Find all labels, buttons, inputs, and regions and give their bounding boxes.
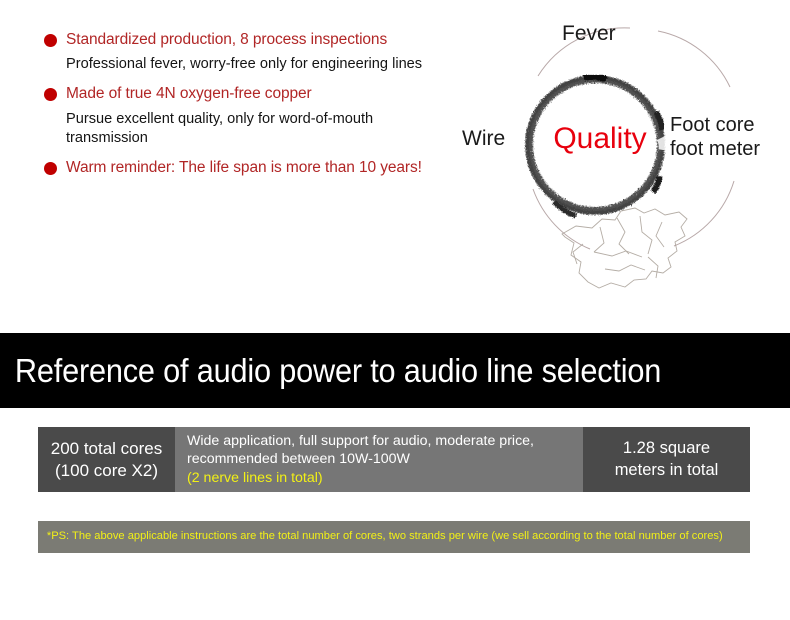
feature-title-1: Standardized production, 8 process inspe… xyxy=(66,30,387,50)
spec-cores-line1: 200 total cores xyxy=(51,438,163,460)
quality-center-label: Quality xyxy=(535,124,665,154)
feature-headline-2: Made of true 4N oxygen-free copper xyxy=(44,84,464,104)
top-feature-section: Standardized production, 8 process inspe… xyxy=(0,0,790,333)
ps-note-text: *PS: The above applicable instructions a… xyxy=(38,530,723,544)
feature-item-2: Made of true 4N oxygen-free copper Pursu… xyxy=(44,84,464,149)
ring-label-wire: Wire xyxy=(462,127,505,152)
ring-label-foot-core-line2: foot meter xyxy=(670,138,760,162)
spec-desc-line2: recommended between 10W-100W xyxy=(187,450,583,469)
spec-desc-line3-highlight: (2 nerve lines in total) xyxy=(187,469,583,488)
bullet-dot-icon xyxy=(44,88,57,101)
ring-label-fever: Fever xyxy=(562,22,616,47)
bullet-dot-icon xyxy=(44,162,57,175)
feature-subtext-2: Pursue excellent quality, only for word-… xyxy=(66,110,458,149)
ps-note-bar: *PS: The above applicable instructions a… xyxy=(38,521,750,553)
feature-title-3: Warm reminder: The life span is more tha… xyxy=(66,158,422,178)
feature-list: Standardized production, 8 process inspe… xyxy=(44,30,464,178)
feature-subtext-1: Professional fever, worry-free only for … xyxy=(66,55,458,75)
spec-cell-area: 1.28 square meters in total xyxy=(583,427,750,492)
spec-area-line2: meters in total xyxy=(615,460,719,481)
spec-table: 200 total cores (100 core X2) Wide appli… xyxy=(38,427,750,492)
quality-circle-graphic: Fever Wire Foot core foot meter Quality xyxy=(462,6,787,306)
feature-headline-1: Standardized production, 8 process inspe… xyxy=(44,30,464,50)
bottom-filler xyxy=(0,560,790,620)
banner-title: Reference of audio power to audio line s… xyxy=(0,354,661,387)
spec-cell-description: Wide application, full support for audio… xyxy=(175,427,583,492)
feature-title-2: Made of true 4N oxygen-free copper xyxy=(66,84,312,104)
spec-cell-cores: 200 total cores (100 core X2) xyxy=(38,427,175,492)
feature-item-3: Warm reminder: The life span is more tha… xyxy=(44,158,464,178)
spec-cores-line2: (100 core X2) xyxy=(55,460,158,482)
ring-label-foot-core: Foot core foot meter xyxy=(670,114,760,161)
feature-item-1: Standardized production, 8 process inspe… xyxy=(44,30,464,75)
bullet-dot-icon xyxy=(44,34,57,47)
feature-headline-3: Warm reminder: The life span is more tha… xyxy=(44,158,464,178)
spec-desc-line1: Wide application, full support for audio… xyxy=(187,432,583,451)
spec-area-line1: 1.28 square xyxy=(623,438,710,459)
section-banner: Reference of audio power to audio line s… xyxy=(0,333,790,408)
ring-label-foot-core-line1: Foot core xyxy=(670,114,760,138)
china-map-outline xyxy=(562,208,687,288)
